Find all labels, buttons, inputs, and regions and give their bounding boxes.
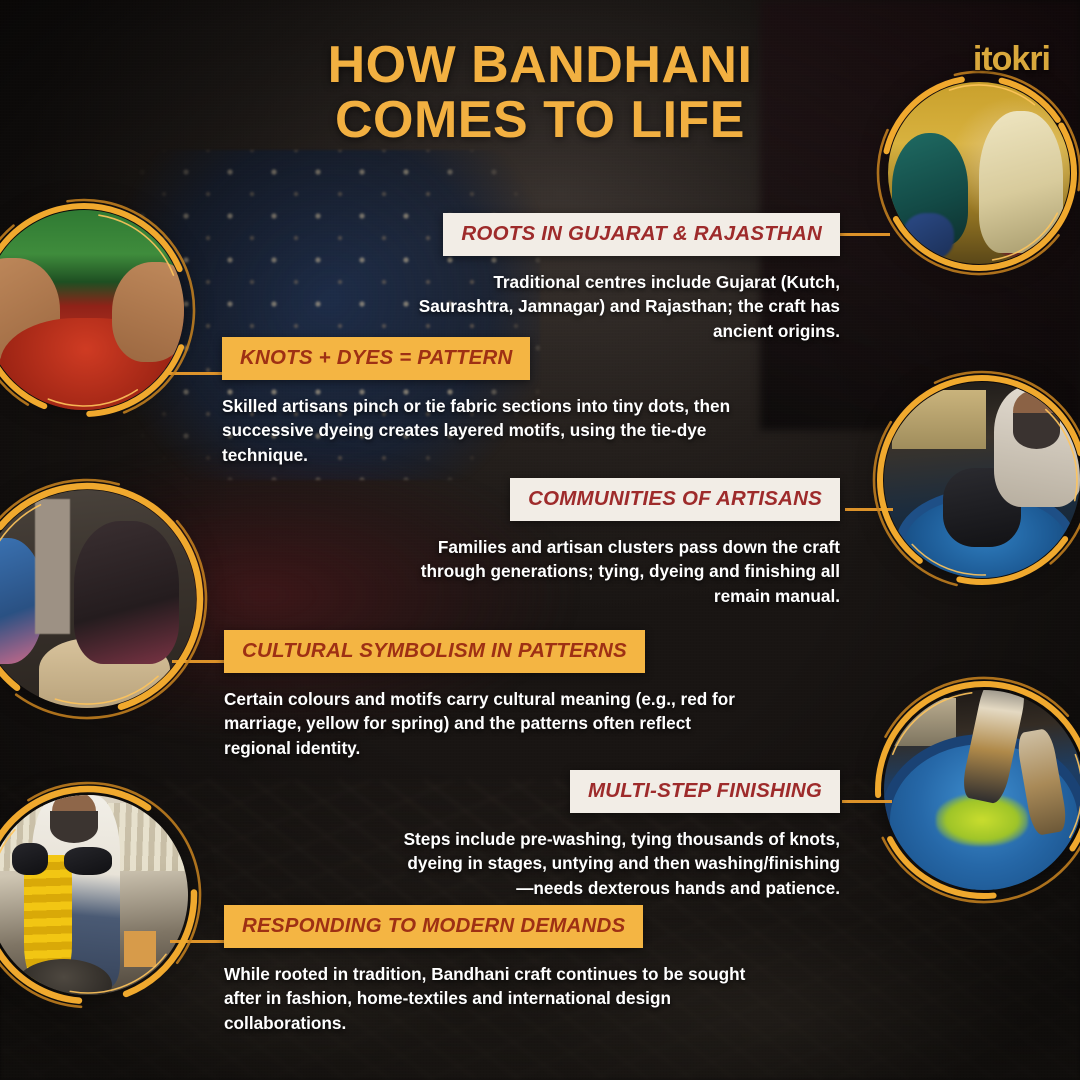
photo-man-lifting-yellow-cloth	[0, 795, 188, 995]
photo-dyer-at-blue-tub-art	[884, 382, 1080, 578]
infographic-poster: HOW BANDHANI COMES TO LIFE itokri	[0, 0, 1080, 1080]
section-roots-label[interactable]: ROOTS IN GUJARAT & RAJASTHAN	[443, 213, 840, 256]
connector-symbolism	[172, 660, 224, 663]
section-knots: KNOTS + DYES = PATTERN Skilled artisans …	[222, 337, 742, 467]
section-modern-body: While rooted in tradition, Bandhani craf…	[224, 962, 774, 1035]
photo6-glove-left	[12, 843, 48, 875]
section-knots-body: Skilled artisans pinch or tie fabric sec…	[222, 394, 742, 467]
photo-hands-tying-red-fabric	[0, 210, 184, 410]
section-modern: RESPONDING TO MODERN DEMANDS While roote…	[224, 905, 774, 1035]
section-finishing: MULTI-STEP FINISHING Steps include pre-w…	[400, 770, 840, 900]
photo3-face	[104, 534, 139, 573]
section-roots-body: Traditional centres include Gujarat (Kut…	[400, 270, 840, 343]
photo6-stool	[124, 931, 156, 967]
photo6-glove-right	[64, 847, 112, 875]
photo-man-lifting-yellow-cloth-art	[0, 795, 188, 995]
itokri-logo[interactable]: itokri	[973, 40, 1050, 79]
section-knots-label[interactable]: KNOTS + DYES = PATTERN	[222, 337, 530, 380]
photo-artisan-women-seated	[0, 490, 196, 708]
photo-blue-dye-vat-art	[884, 690, 1080, 890]
photo-dyer-at-blue-tub	[884, 382, 1080, 578]
section-roots: ROOTS IN GUJARAT & RAJASTHAN Traditional…	[400, 213, 840, 343]
photo2-red-fabric-pile	[0, 318, 172, 410]
section-communities-label[interactable]: COMMUNITIES OF ARTISANS	[510, 478, 840, 521]
section-communities: COMMUNITIES OF ARTISANS Families and art…	[400, 478, 840, 608]
section-symbolism: CULTURAL SYMBOLISM IN PATTERNS Certain c…	[224, 630, 754, 760]
photo1-red-cloth	[990, 184, 1048, 257]
photo5-yellow-dye-splash	[936, 794, 1028, 846]
title-line-1: HOW BANDHANI	[328, 36, 753, 94]
page-title: HOW BANDHANI COMES TO LIFE	[0, 38, 1080, 148]
section-finishing-label[interactable]: MULTI-STEP FINISHING	[570, 770, 840, 813]
title-line-2: COMES TO LIFE	[0, 93, 1080, 148]
connector-modern	[170, 940, 224, 943]
photo4-beard	[1013, 413, 1060, 448]
photo-artisan-women-seated-art	[0, 490, 196, 708]
section-symbolism-body: Certain colours and motifs carry cultura…	[224, 687, 754, 760]
photo3-wall-pillar	[35, 499, 70, 634]
section-modern-label[interactable]: RESPONDING TO MODERN DEMANDS	[224, 905, 643, 948]
connector-knots	[168, 372, 222, 375]
section-communities-body: Families and artisan clusters pass down …	[400, 535, 840, 608]
photo3-cloth-bundle	[39, 638, 170, 708]
section-finishing-body: Steps include pre-washing, tying thousan…	[400, 827, 840, 900]
photo6-beard	[50, 811, 98, 843]
photo1-blue-bundle	[903, 213, 954, 260]
photo-blue-dye-vat	[884, 690, 1080, 890]
connector-finishing	[842, 800, 892, 803]
connector-roots	[840, 233, 890, 236]
section-symbolism-label[interactable]: CULTURAL SYMBOLISM IN PATTERNS	[224, 630, 645, 673]
itokri-logo-text: itokri	[973, 40, 1050, 78]
connector-communities	[845, 508, 893, 511]
photo-hands-tying-red-fabric-art	[0, 210, 184, 410]
